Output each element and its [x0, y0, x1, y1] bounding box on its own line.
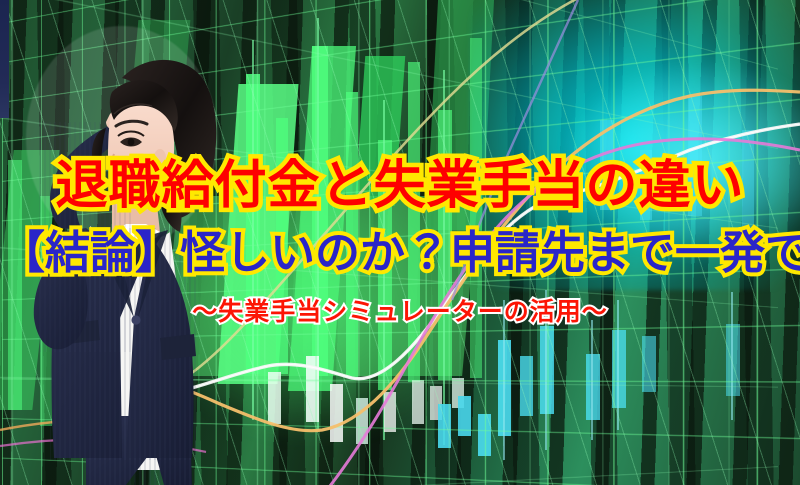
- title-overlay: 退職給付金と失業手当の違い 【結論】怪しいのか？申請先まで一発でわかる 〜失業手…: [0, 0, 800, 485]
- title-line-1: 退職給付金と失業手当の違い: [0, 160, 800, 212]
- thumbnail-canvas: 退職給付金と失業手当の違い 【結論】怪しいのか？申請先まで一発でわかる 〜失業手…: [0, 0, 800, 485]
- title-line-2: 【結論】怪しいのか？申請先まで一発でわかる: [0, 230, 800, 275]
- subtitle-line: 〜失業手当シミュレーターの活用〜: [0, 299, 800, 324]
